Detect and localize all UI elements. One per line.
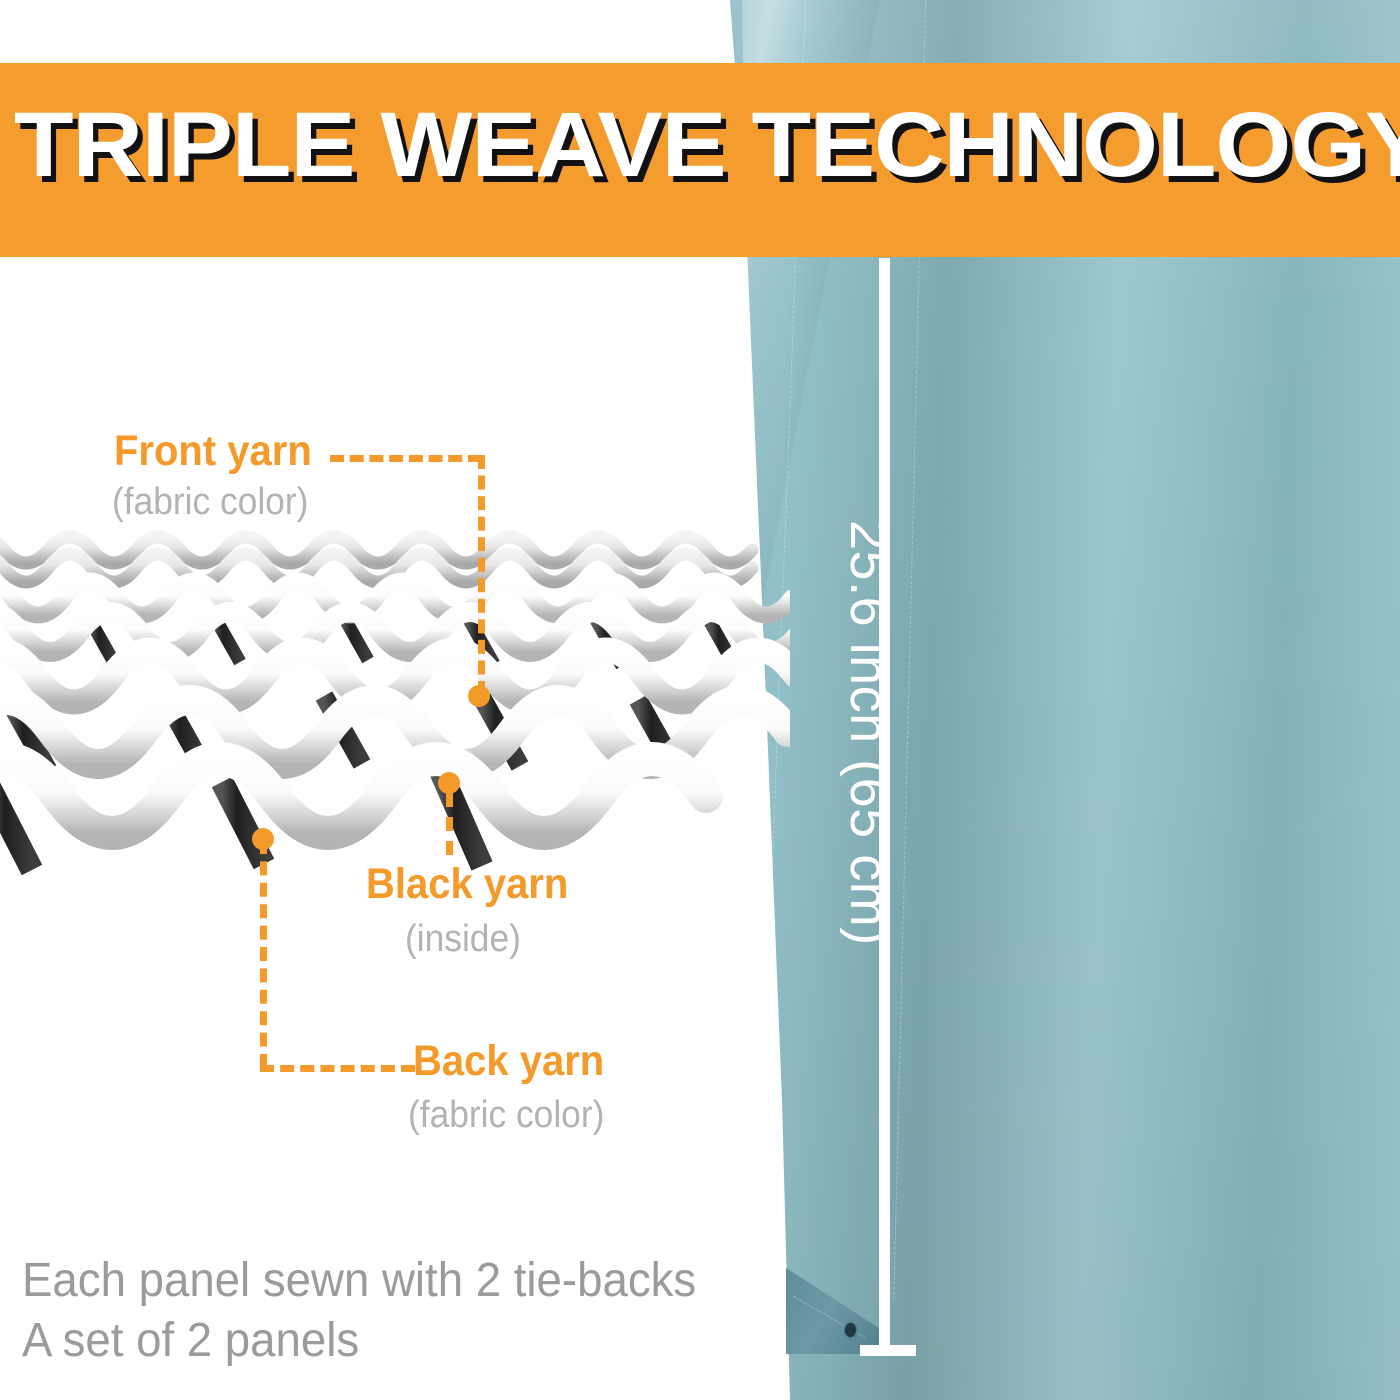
black-yarn-anchor-dot-icon <box>438 772 460 794</box>
note-tie-backs: Each panel sewn with 2 tie-backs <box>22 1253 696 1308</box>
weave-row-mid <box>0 581 790 652</box>
weave-row-back <box>0 537 752 582</box>
black-yarn-sublabel: (inside) <box>405 918 521 960</box>
banner: TRIPLE WEAVE TECHNOLOGY <box>0 63 1400 257</box>
dimension-label: 25.6 inch (65 cm) <box>838 520 900 946</box>
curtain-grommet-icon <box>845 1323 856 1337</box>
banner-title: TRIPLE WEAVE TECHNOLOGY <box>14 89 1400 201</box>
front-yarn-leader-horizontal-icon <box>330 455 482 462</box>
front-yarn-label: Front yarn <box>114 428 312 474</box>
weave-illustration <box>0 470 790 900</box>
back-yarn-label: Back yarn <box>413 1038 604 1084</box>
front-yarn-anchor-dot-icon <box>468 685 490 707</box>
black-yarn-label: Black yarn <box>366 861 568 907</box>
back-yarn-leader-horizontal-icon <box>260 1065 415 1072</box>
dimension-end-cap-icon <box>860 1345 916 1356</box>
front-yarn-leader-vertical-icon <box>478 455 485 695</box>
front-yarn-sublabel: (fabric color) <box>112 481 308 523</box>
black-yarn-leader-vertical-icon <box>446 793 453 855</box>
back-yarn-sublabel: (fabric color) <box>408 1094 604 1136</box>
note-panel-count: A set of 2 panels <box>22 1313 359 1368</box>
infographic-canvas: TRIPLE WEAVE TECHNOLOGY Front yarn (fabr… <box>0 0 1400 1400</box>
back-yarn-leader-vertical-icon <box>260 840 267 1068</box>
